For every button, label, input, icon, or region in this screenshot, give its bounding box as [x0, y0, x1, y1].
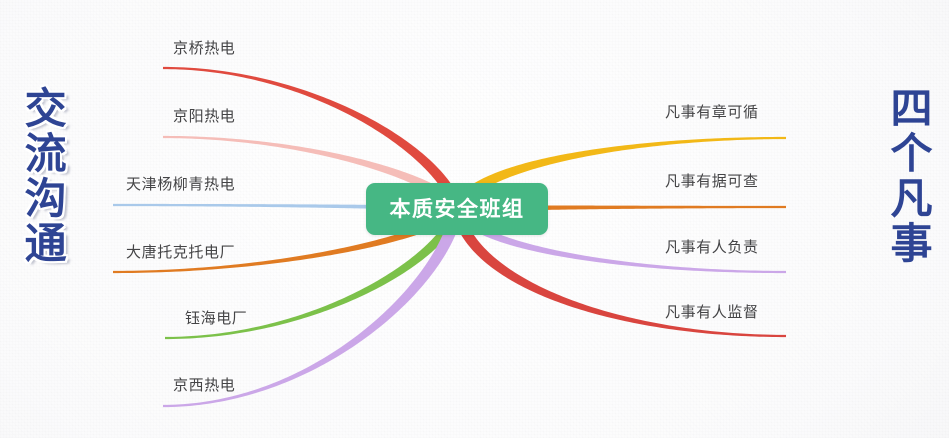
left-branch-label[interactable]: 天津杨柳青热电 — [126, 177, 235, 192]
left-branch-label[interactable]: 大唐托克托电厂 — [126, 245, 235, 260]
side-title-left: 交流沟通 — [22, 86, 63, 266]
mindmap-canvas: 京桥热电京阳热电天津杨柳青热电大唐托克托电厂钰海电厂京西热电 凡事有章可循凡事有… — [0, 0, 949, 438]
left-branch-label[interactable]: 钰海电厂 — [185, 311, 247, 326]
right-branch-label[interactable]: 凡事有人负责 — [665, 240, 759, 255]
right-branch-label[interactable]: 凡事有据可查 — [665, 174, 759, 189]
right-branch-label[interactable]: 凡事有人监督 — [665, 305, 759, 320]
left-branch-label[interactable]: 京西热电 — [173, 378, 235, 393]
center-node[interactable]: 本质安全班组 — [366, 183, 548, 235]
right-branch-label[interactable]: 凡事有章可循 — [665, 105, 759, 120]
center-node-label: 本质安全班组 — [390, 199, 525, 220]
side-title-right: 四个凡事 — [888, 86, 929, 266]
left-branch-label[interactable]: 京阳热电 — [173, 109, 235, 124]
left-branch-label[interactable]: 京桥热电 — [173, 41, 235, 56]
